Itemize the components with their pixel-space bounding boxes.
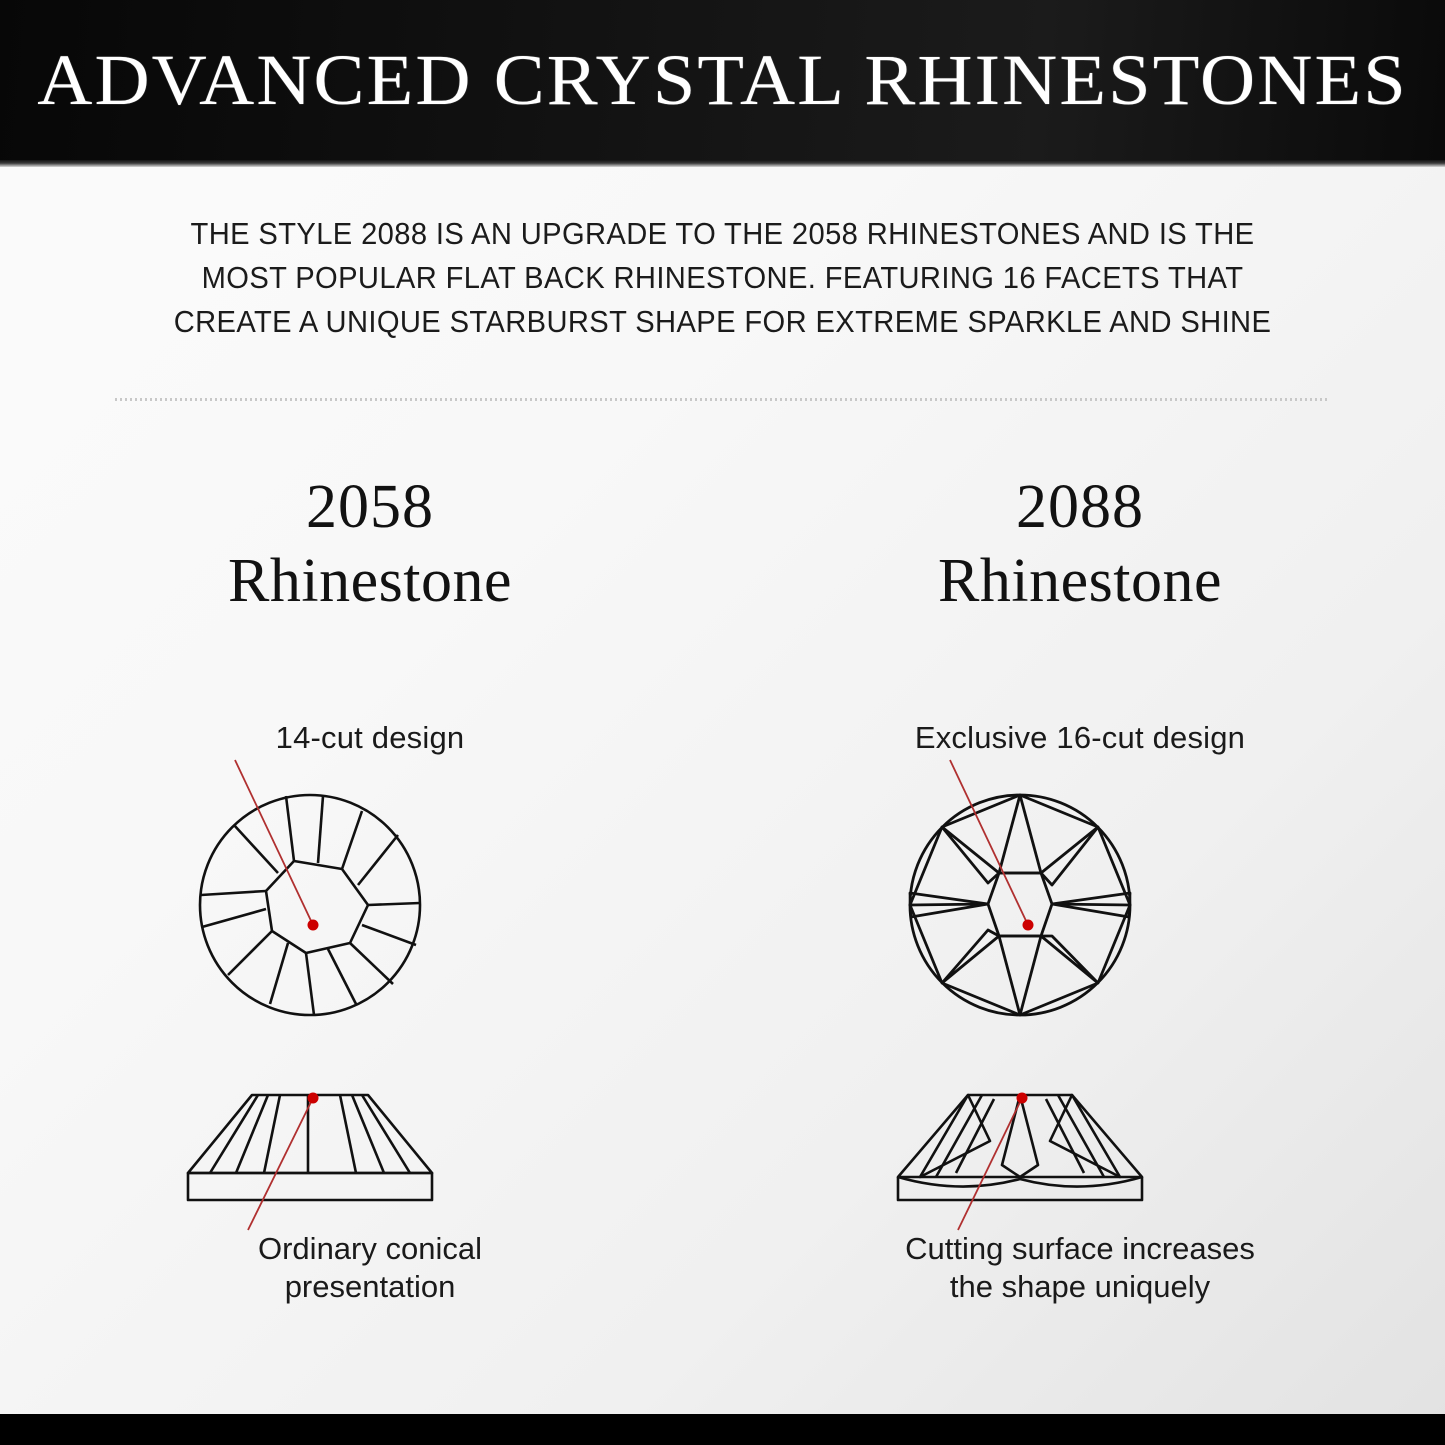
caption-conical: Ordinary conical presentation [60, 1230, 680, 1306]
figure-conical-side-profile [180, 1085, 440, 1210]
intro-line-1: THE STYLE 2088 IS AN UPGRADE TO THE 2058… [147, 212, 1299, 256]
intro-line-2: MOST POPULAR FLAT BACK RHINESTONE. FEATU… [147, 256, 1299, 300]
cut-label-2088: Exclusive 16-cut design [770, 720, 1390, 756]
star-arm-sw [942, 930, 999, 983]
star-arm-ne [1041, 827, 1098, 885]
header-banner: ADVANCED CRYSTAL RHINESTONES [0, 0, 1445, 160]
caption-line-2: the shape uniquely [770, 1268, 1390, 1306]
conical-profile-diagram [180, 1085, 440, 1210]
starburst-profile-diagram [890, 1085, 1150, 1210]
column-2088: 2088 Rhinestone Exclusive 16-cut design [770, 470, 1390, 618]
infographic-page: ADVANCED CRYSTAL RHINESTONES THE STYLE 2… [0, 0, 1445, 1445]
cut-label-2058: 14-cut design [60, 720, 680, 756]
column-2058: 2058 Rhinestone 14-cut design [60, 470, 680, 618]
star-arm-nw [942, 827, 999, 883]
cone-body [188, 1095, 432, 1173]
caption-starburst: Cutting surface increases the shape uniq… [770, 1230, 1390, 1306]
crown-body [898, 1095, 1142, 1177]
figure-starburst-side-profile [890, 1085, 1150, 1210]
intro-line-3: CREATE A UNIQUE STARBURST SHAPE FOR EXTR… [147, 300, 1299, 344]
column-title-2088: 2088 Rhinestone [770, 470, 1390, 618]
caption-line-2: presentation [60, 1268, 680, 1306]
column-title-2058: 2058 Rhinestone [60, 470, 680, 618]
fourteen-cut-diagram [190, 785, 430, 1025]
star-arm-s [999, 936, 1041, 1015]
figure-fourteen-cut-top-view [190, 785, 430, 1025]
dotted-divider [115, 398, 1330, 401]
scallop-top [898, 1177, 1142, 1187]
column-title-word: Rhinestone [60, 544, 680, 618]
inner-table-polygon [266, 861, 368, 953]
star-arm-se [1041, 936, 1098, 983]
column-title-number: 2058 [60, 470, 680, 544]
page-title: ADVANCED CRYSTAL RHINESTONES [37, 44, 1408, 116]
right-wedge [1050, 1095, 1120, 1177]
intro-paragraph: THE STYLE 2088 IS AN UPGRADE TO THE 2058… [110, 212, 1335, 344]
figure-sixteen-cut-top-view [900, 785, 1140, 1025]
star-arm-n [999, 795, 1041, 873]
center-wedge [1002, 1095, 1038, 1177]
base-slab [898, 1177, 1142, 1200]
footer-bar [0, 1414, 1445, 1445]
header-underline-divider [0, 160, 1445, 167]
inner-table-polygon [988, 873, 1052, 936]
left-wedge [920, 1095, 990, 1177]
sixteen-cut-starburst-diagram [900, 785, 1140, 1025]
caption-line-1: Cutting surface increases [770, 1230, 1390, 1268]
caption-line-1: Ordinary conical [60, 1230, 680, 1268]
column-title-word: Rhinestone [770, 544, 1390, 618]
column-title-number: 2088 [770, 470, 1390, 544]
base-slab [188, 1173, 432, 1200]
